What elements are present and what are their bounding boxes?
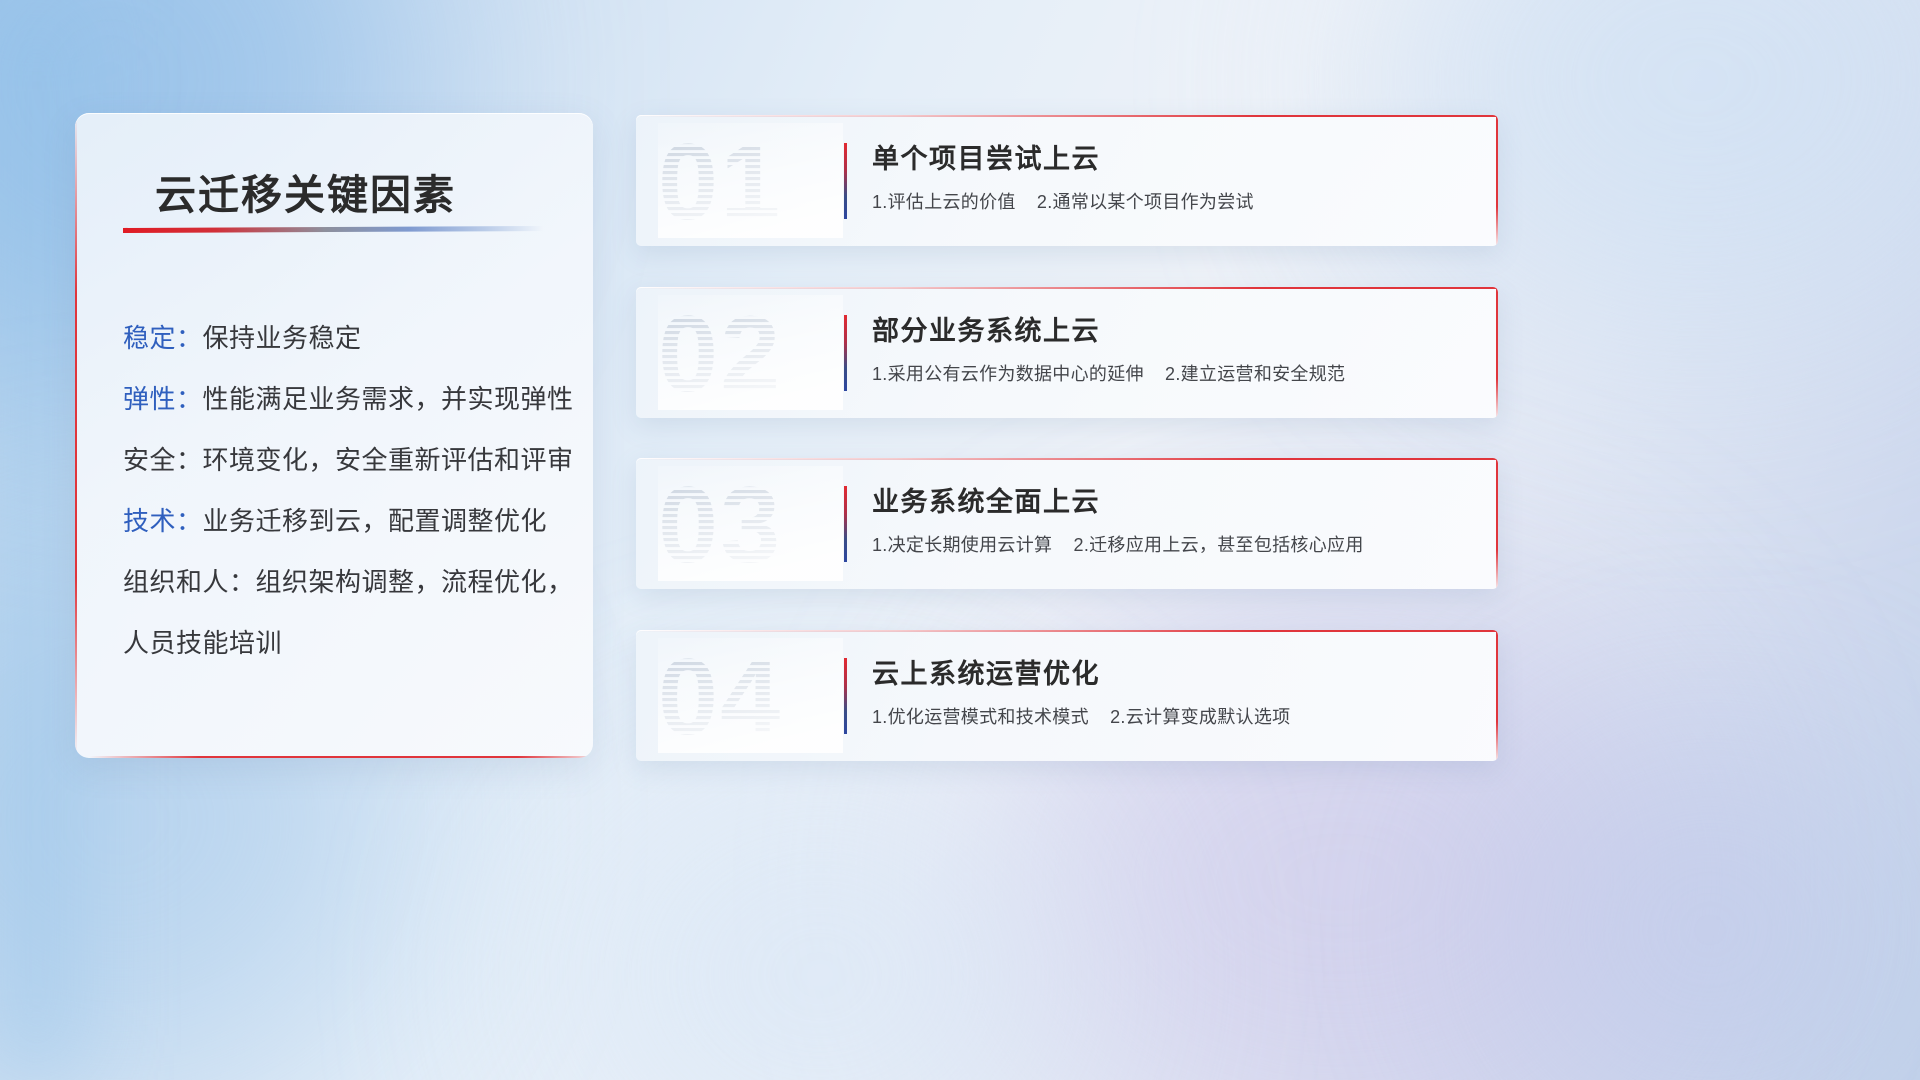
page-title: 云迁移关键因素 — [155, 161, 456, 221]
key-factor-item: 稳定：保持业务稳定 — [123, 308, 565, 369]
stage-description: 1.决定长期使用云计算 2.迁移应用上云，甚至包括核心应用 — [872, 531, 1364, 557]
key-factor-text: 性能满足业务需求，并实现弹性 — [203, 384, 574, 414]
key-factor-text: 组织架构调整，流程优化， — [256, 567, 574, 597]
stage-number-icon: 03 — [658, 466, 843, 581]
stage-heading: 云上系统运营优化 — [872, 652, 1100, 691]
stage-divider — [844, 315, 847, 391]
stage-number-icon: 04 — [658, 638, 843, 753]
key-factors-list: 稳定：保持业务稳定弹性：性能满足业务需求，并实现弹性安全：环境变化，安全重新评估… — [123, 308, 565, 674]
key-factor-text: 环境变化，安全重新评估和评审 — [203, 445, 574, 475]
stage-divider — [844, 658, 847, 734]
card-top-accent — [636, 115, 1498, 117]
key-factor-label: 稳定： — [123, 323, 203, 353]
card-right-accent — [1496, 458, 1498, 589]
stage-number-icon: 01 — [658, 123, 843, 238]
stage-card[interactable]: 01单个项目尝试上云1.评估上云的价值 2.通常以某个项目作为尝试 — [636, 115, 1498, 246]
key-factor-item: 弹性：性能满足业务需求，并实现弹性 — [123, 369, 565, 430]
key-factor-label: 技术： — [123, 506, 203, 536]
key-factor-text: 业务迁移到云，配置调整优化 — [203, 506, 548, 536]
key-factor-item: 技术：业务迁移到云，配置调整优化 — [123, 491, 565, 552]
card-top-accent — [636, 630, 1498, 632]
stage-divider — [844, 143, 847, 219]
key-factor-item: 人员技能培训 — [123, 613, 565, 674]
key-factor-item: 安全：环境变化，安全重新评估和评审 — [123, 430, 565, 491]
key-factor-text: 人员技能培训 — [123, 628, 282, 658]
stage-card[interactable]: 04云上系统运营优化1.优化运营模式和技术模式 2.云计算变成默认选项 — [636, 630, 1498, 761]
stage-heading: 单个项目尝试上云 — [872, 137, 1100, 176]
stage-description: 1.评估上云的价值 2.通常以某个项目作为尝试 — [872, 188, 1254, 214]
key-factor-text: 保持业务稳定 — [203, 323, 362, 353]
title-underline-accent — [123, 226, 543, 233]
stage-number-icon: 02 — [658, 295, 843, 410]
card-right-accent — [1496, 630, 1498, 761]
stage-description: 1.优化运营模式和技术模式 2.云计算变成默认选项 — [872, 703, 1290, 729]
key-factor-label: 弹性： — [123, 384, 203, 414]
stage-heading: 业务系统全面上云 — [872, 480, 1100, 519]
stage-card[interactable]: 02部分业务系统上云1.采用公有云作为数据中心的延伸 2.建立运营和安全规范 — [636, 287, 1498, 418]
card-right-accent — [1496, 287, 1498, 418]
key-factors-panel: 云迁移关键因素 稳定：保持业务稳定弹性：性能满足业务需求，并实现弹性安全：环境变… — [75, 113, 593, 758]
card-top-accent — [636, 458, 1498, 460]
key-factor-label: 组织和人： — [123, 567, 256, 597]
key-factor-label: 安全： — [123, 445, 203, 475]
stage-card[interactable]: 03业务系统全面上云1.决定长期使用云计算 2.迁移应用上云，甚至包括核心应用 — [636, 458, 1498, 589]
stage-description: 1.采用公有云作为数据中心的延伸 2.建立运营和安全规范 — [872, 360, 1345, 386]
key-factor-item: 组织和人：组织架构调整，流程优化， — [123, 552, 565, 613]
stage-divider — [844, 486, 847, 562]
card-right-accent — [1496, 115, 1498, 246]
stage-heading: 部分业务系统上云 — [872, 309, 1100, 348]
card-top-accent — [636, 287, 1498, 289]
